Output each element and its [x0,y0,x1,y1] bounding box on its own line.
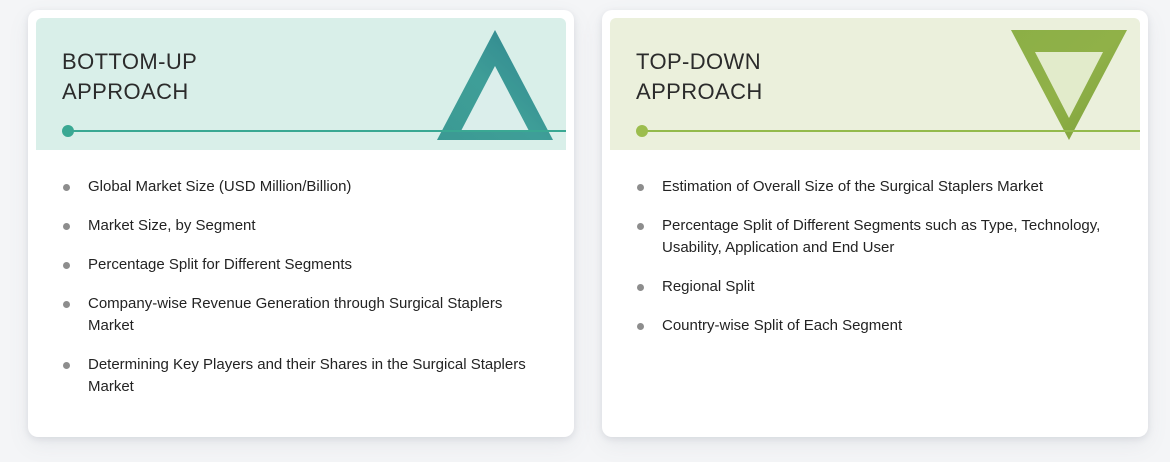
page-title: BOTTOM-UP APPROACH [62,47,197,107]
list-item-label: Market Size, by Segment [88,217,256,234]
bullet-dot-icon [63,223,70,230]
list-item: Determining Key Players and their Shares… [60,354,548,398]
list-item: Estimation of Overall Size of the Surgic… [634,176,1122,198]
card-header-top-down: TOP-DOWN APPROACH [610,18,1140,150]
list-item: Global Market Size (USD Million/Billion) [60,176,548,198]
bullet-dot-icon [637,184,644,191]
bullet-list-bottom-up: Global Market Size (USD Million/Billion)… [36,150,566,418]
list-item-label: Determining Key Players and their Shares… [88,356,526,395]
list-item: Company-wise Revenue Generation through … [60,293,548,337]
rule-dot [62,125,74,137]
bullet-dot-icon [63,362,70,369]
rule-line [642,130,1140,132]
list-item: Country-wise Split of Each Segment [634,315,1122,337]
header-rule-bottom-up [62,125,566,137]
bullet-dot-icon [637,223,644,230]
list-item: Percentage Split for Different Segments [60,254,548,276]
list-item: Regional Split [634,276,1122,298]
approach-comparison-panel: BOTTOM-UP APPROACH [0,0,1170,462]
list-item-label: Percentage Split of Different Segments s… [662,217,1100,256]
list-item-label: Global Market Size (USD Million/Billion) [88,178,351,195]
bullet-dot-icon [637,323,644,330]
list-item: Market Size, by Segment [60,215,548,237]
list-item: Percentage Split of Different Segments s… [634,215,1122,259]
rule-line [68,130,566,132]
rule-dot [636,125,648,137]
card-header-bottom-up: BOTTOM-UP APPROACH [36,18,566,150]
list-item-label: Estimation of Overall Size of the Surgic… [662,178,1043,195]
bullet-list-top-down: Estimation of Overall Size of the Surgic… [610,150,1140,357]
card-top-down-approach: TOP-DOWN APPROACH [602,10,1148,437]
bullet-dot-icon [63,301,70,308]
list-item-label: Regional Split [662,278,755,295]
card-bottom-up-approach: BOTTOM-UP APPROACH [28,10,574,437]
bullet-dot-icon [63,184,70,191]
list-item-label: Percentage Split for Different Segments [88,256,352,273]
list-item-label: Company-wise Revenue Generation through … [88,295,502,334]
bullet-dot-icon [63,262,70,269]
list-item-label: Country-wise Split of Each Segment [662,317,902,334]
header-rule-top-down [636,125,1140,137]
bullet-dot-icon [637,284,644,291]
page-title: TOP-DOWN APPROACH [636,47,763,107]
